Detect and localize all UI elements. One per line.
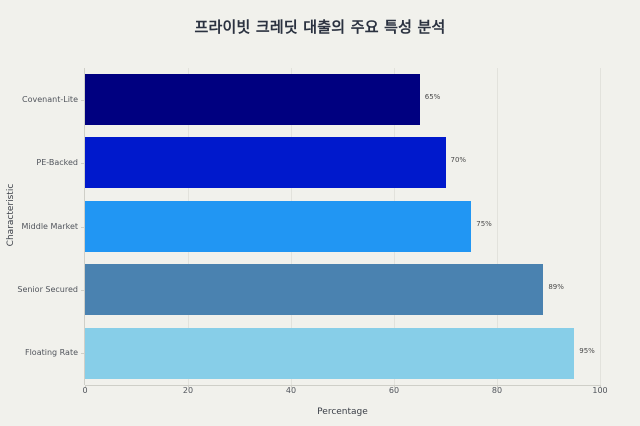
bar-value-label: 95% — [579, 347, 595, 355]
bar[interactable] — [85, 74, 420, 125]
plot-area: 65%70%75%89%95% — [85, 68, 600, 385]
y-tick-mark — [81, 353, 84, 354]
bar-row: 70% — [85, 131, 600, 194]
chart-figure: 프라이빗 크레딧 대출의 주요 특성 분석 020406080100 Coven… — [0, 0, 640, 426]
y-tick-mark — [81, 227, 84, 228]
x-tick-label: 0 — [65, 386, 105, 395]
bar-value-label: 65% — [425, 93, 441, 101]
bar[interactable] — [85, 201, 471, 252]
y-tick-mark — [81, 290, 84, 291]
x-tick-label: 20 — [168, 386, 208, 395]
y-tick-mark — [81, 163, 84, 164]
bar[interactable] — [85, 328, 574, 379]
y-tick-label: Covenant-Lite — [0, 95, 78, 104]
bar-row: 75% — [85, 195, 600, 258]
bar[interactable] — [85, 137, 446, 188]
y-tick-mark — [81, 100, 84, 101]
x-axis-spine — [85, 385, 600, 386]
x-tick-label: 100 — [580, 386, 620, 395]
bar-row: 65% — [85, 68, 600, 131]
bar-row: 89% — [85, 258, 600, 321]
chart-title: 프라이빗 크레딧 대출의 주요 특성 분석 — [0, 16, 640, 37]
gridline — [600, 68, 601, 385]
x-axis-title: Percentage — [85, 407, 600, 417]
x-tick-label: 80 — [477, 386, 517, 395]
x-tick-label: 60 — [374, 386, 414, 395]
y-tick-label: Floating Rate — [0, 348, 78, 357]
bar[interactable] — [85, 264, 543, 315]
y-axis-title: Characteristic — [6, 125, 16, 305]
bar-value-label: 89% — [548, 283, 564, 291]
x-tick-label: 40 — [271, 386, 311, 395]
bar-row: 95% — [85, 322, 600, 385]
bar-value-label: 70% — [451, 156, 467, 164]
bar-value-label: 75% — [476, 220, 492, 228]
